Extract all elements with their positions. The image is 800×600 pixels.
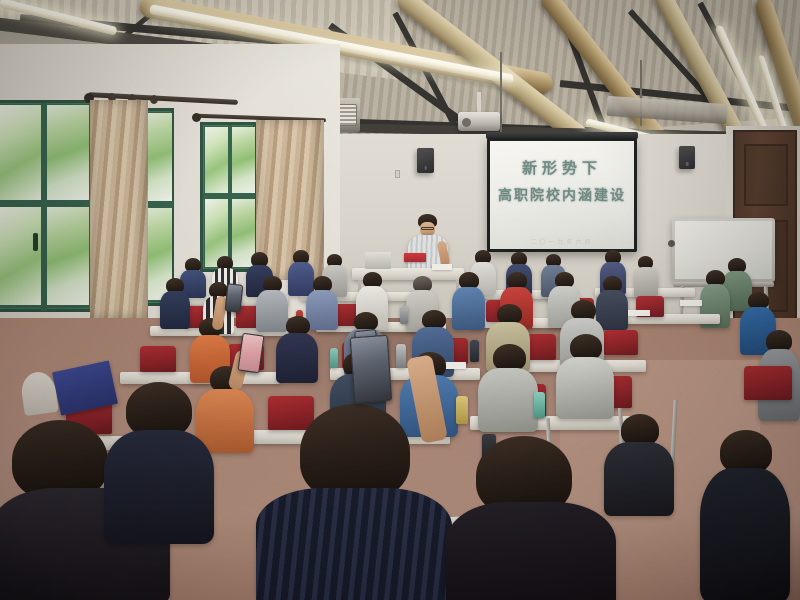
window-pane — [0, 207, 41, 305]
foreground-attendee-left-mid — [104, 382, 214, 542]
wall-speaker-right — [679, 146, 695, 169]
paper — [628, 310, 650, 316]
attendee — [604, 414, 674, 514]
attendee-torso — [634, 267, 658, 297]
attendee-hair — [571, 300, 596, 320]
attendee-hair — [493, 344, 526, 371]
slide-title-line2: 高职院校内涵建设 — [498, 185, 626, 205]
phone-screen — [226, 284, 243, 311]
casement-window-left — [0, 100, 94, 312]
paper — [680, 300, 702, 306]
water-bottle — [534, 392, 545, 418]
attendee-hair — [497, 304, 522, 324]
laptop[interactable] — [365, 252, 391, 269]
lecture-hall-photo: 新形势下 高职院校内涵建设 二〇一九年六月 — [0, 0, 800, 600]
paper-stack — [432, 264, 452, 270]
attendee — [478, 344, 538, 432]
projector-mount — [477, 92, 481, 114]
door-panel-top — [744, 144, 788, 206]
attendee-torso — [556, 357, 614, 419]
window-pane — [47, 207, 89, 305]
attendee — [452, 272, 485, 328]
phone-screen — [351, 336, 391, 402]
chair-back[interactable] — [744, 366, 792, 400]
window-mullion-h — [203, 193, 255, 199]
attendee-torso — [276, 333, 318, 383]
window-pane — [205, 127, 228, 193]
projection-screen: 新形势下 高职院校内涵建设 二〇一九年六月 — [490, 141, 634, 249]
presenter-nameplate — [404, 253, 426, 262]
attendee — [556, 334, 614, 420]
smartphone[interactable] — [225, 283, 244, 313]
attendee-torso — [700, 468, 790, 600]
thermos — [482, 434, 496, 472]
presenter-glasses — [421, 227, 434, 230]
curtain-rod-finial — [192, 113, 201, 122]
window-pane — [0, 105, 41, 200]
light-hanger — [500, 52, 502, 132]
projector-lens — [462, 118, 471, 127]
curtain-left — [90, 100, 148, 318]
attendee-torso — [452, 287, 485, 330]
casement-window-far — [200, 122, 256, 272]
attendee-photographing — [276, 316, 318, 380]
wall-outlet — [395, 170, 400, 178]
slide-title-line1: 新形势下 — [522, 157, 602, 178]
chair-back[interactable] — [268, 396, 314, 430]
attendee-torso — [604, 442, 674, 516]
wall-speaker-left — [417, 148, 434, 173]
curtain-ring — [150, 95, 158, 104]
smartphone[interactable] — [350, 335, 393, 403]
window-mullion-h — [0, 200, 91, 207]
slide-date: 二〇一九年六月 — [530, 237, 593, 246]
thermos — [400, 306, 408, 324]
whiteboard-knob — [668, 240, 675, 247]
window-pane — [232, 127, 255, 193]
attendee — [634, 256, 658, 296]
foreground-attendee-torso-stripe — [256, 488, 452, 600]
phone-screen — [239, 334, 264, 372]
attendee — [160, 278, 190, 328]
travel-mug — [456, 396, 468, 424]
attendee — [700, 430, 790, 600]
chair-back[interactable] — [140, 346, 176, 372]
attendee-torso — [478, 368, 538, 432]
window-pane — [47, 105, 89, 200]
attendee-torso — [104, 430, 214, 544]
attendee-torso — [160, 291, 190, 329]
projection-screen-frame: 新形势下 高职院校内涵建设 二〇一九年六月 — [487, 138, 637, 252]
window-handle[interactable] — [33, 233, 38, 251]
window-mullion-v — [41, 103, 47, 311]
